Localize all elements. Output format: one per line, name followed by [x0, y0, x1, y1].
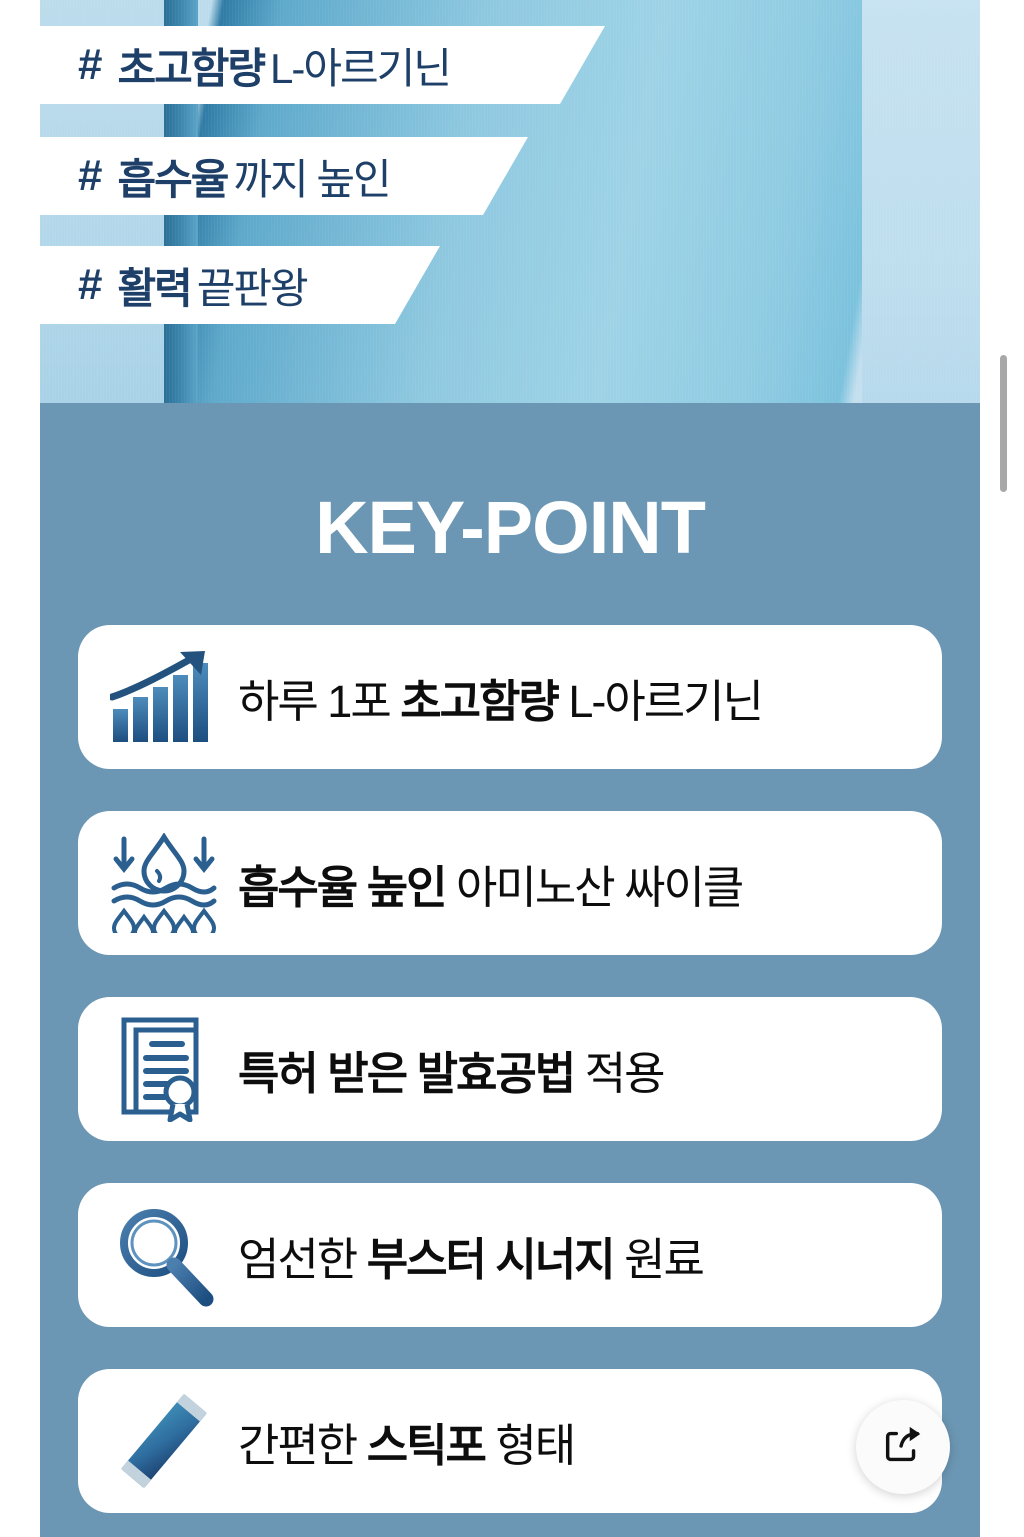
card-text-post: 원료: [614, 1234, 703, 1285]
card-text-post: 아미노산 싸이클: [446, 862, 743, 913]
share-icon: [880, 1423, 926, 1472]
hashtag-normal-text: 끝판왕: [197, 255, 307, 316]
hashtag-symbol: #: [78, 151, 101, 201]
keypoint-title: KEY-POINT: [40, 403, 980, 565]
card-text-post: 적용: [574, 1048, 663, 1099]
card-text-pre: 간편한: [238, 1420, 367, 1471]
keypoint-card-text: 흡수율 높인 아미노산 싸이클: [238, 851, 742, 916]
keypoint-card-text: 하루 1포 초고함량 L-아르기닌: [238, 665, 762, 730]
magnifying-glass-icon: [104, 1203, 224, 1307]
hashtag-symbol: #: [78, 260, 101, 310]
keypoint-card-text: 엄선한 부스터 시너지 원료: [238, 1223, 703, 1288]
hashtag-normal-text: 까지 높인: [233, 146, 389, 207]
hashtag-banner-2: # 흡수율 까지 높인: [40, 137, 528, 215]
bar-chart-growth-icon: [104, 645, 224, 749]
content-column: # 초고함량 L-아르기닌 # 흡수율 까지 높인 # 활력 끝판왕 KEY-P…: [40, 0, 980, 1537]
scrollbar-thumb[interactable]: [1000, 355, 1007, 492]
hashtag-strong-text: 초고함량: [117, 35, 264, 96]
water-absorption-icon: [104, 831, 224, 935]
keypoint-card: 하루 1포 초고함량 L-아르기닌: [78, 625, 942, 769]
hashtag-strong-text: 흡수율: [117, 146, 227, 207]
card-text-post: L-아르기닌: [558, 676, 762, 727]
card-text-post: 형태: [485, 1420, 574, 1471]
keypoint-card: 흡수율 높인 아미노산 싸이클: [78, 811, 942, 955]
hashtag-normal-text: L-아르기닌: [270, 35, 450, 96]
keypoint-card: 간편한 스틱포 형태: [78, 1369, 942, 1513]
keypoint-card: 특허 받은 발효공법 적용: [78, 997, 942, 1141]
hashtag-banner-3: # 활력 끝판왕: [40, 246, 440, 324]
card-text-strong: 초고함량: [400, 676, 558, 727]
hashtag-banner-1: # 초고함량 L-아르기닌: [40, 26, 605, 104]
card-text-strong: 특허 받은 발효공법: [238, 1048, 574, 1099]
share-button[interactable]: [856, 1400, 950, 1494]
card-text-pre: 엄선한: [238, 1234, 367, 1285]
keypoint-card-list: 하루 1포 초고함량 L-아르기닌: [40, 625, 980, 1513]
keypoint-card-text: 특허 받은 발효공법 적용: [238, 1037, 664, 1102]
card-text-strong: 부스터 시너지: [367, 1234, 614, 1285]
hashtag-symbol: #: [78, 40, 101, 90]
card-text-strong: 스틱포: [367, 1420, 485, 1471]
keypoint-card-text: 간편한 스틱포 형태: [238, 1409, 574, 1474]
scrollbar-track[interactable]: [1004, 0, 1018, 1537]
keypoint-card: 엄선한 부스터 시너지 원료: [78, 1183, 942, 1327]
hashtag-strong-text: 활력: [117, 255, 190, 316]
patent-certificate-icon: [104, 1017, 224, 1121]
card-text-strong: 흡수율 높인: [238, 862, 446, 913]
keypoint-section: KEY-POINT: [40, 403, 980, 1537]
stick-pack-icon: [104, 1389, 224, 1493]
product-detail-page: # 초고함량 L-아르기닌 # 흡수율 까지 높인 # 활력 끝판왕 KEY-P…: [0, 0, 1024, 1537]
hero-right-column: [862, 0, 980, 403]
card-text-pre: 하루 1포: [238, 676, 400, 727]
hero-banner: # 초고함량 L-아르기닌 # 흡수율 까지 높인 # 활력 끝판왕: [40, 0, 980, 403]
